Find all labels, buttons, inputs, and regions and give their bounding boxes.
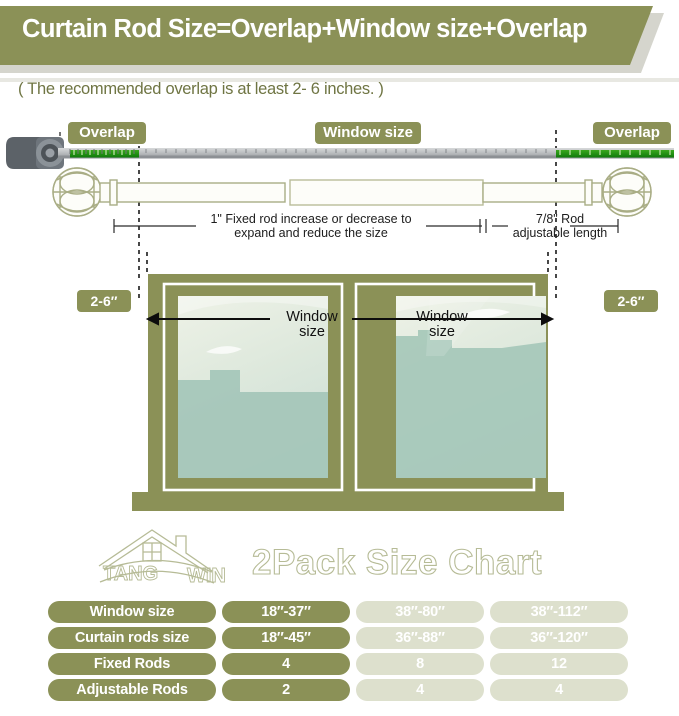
window-size-label-left: Window size [270,310,354,340]
table-cell: 38″-112″ [490,601,628,623]
page-title: Curtain Rod Size=Overlap+Window size+Ove… [22,15,587,44]
logo-text-right: WIN [187,565,226,587]
window-size-label-left-line2: size [270,325,354,340]
size-chart-table: Window size18″-37″38″-80″38″-112″Curtain… [48,601,632,705]
callout-left-margin: 2-6″ [77,290,131,312]
logo-text-left: TANG [103,563,158,585]
table-row-header: Fixed Rods [48,653,216,675]
window-size-label-right-line2: size [400,325,484,340]
table-cell: 12 [490,653,628,675]
note-adjustable-rod-line2: adjustable length [495,226,625,240]
table-row: Window size18″-37″38″-80″38″-112″ [48,601,632,623]
note-fixed-rod-line1: 1" Fixed rod increase or decrease to [196,212,426,226]
house-logo-icon [99,530,214,583]
table-cell: 18″-45″ [222,627,350,649]
table-row: Curtain rods size18″-45″36″-88″36″-120″ [48,627,632,649]
window-size-label-left-line1: Window [270,310,354,325]
table-cell: 2 [222,679,350,701]
table-row-header: Curtain rods size [48,627,216,649]
callout-right-margin: 2-6″ [604,290,658,312]
header-banner: Curtain Rod Size=Overlap+Window size+Ove… [0,6,679,74]
table-cell: 38″-80″ [356,601,484,623]
window-size-label-right: Window size [400,310,484,340]
note-adjustable-rod: 7/8" Rod adjustable length [495,212,625,241]
table-cell: 4 [356,679,484,701]
table-cell: 36″-88″ [356,627,484,649]
rod-finial-left [53,168,101,216]
table-cell: 8 [356,653,484,675]
callout-overlap-left: Overlap [68,122,146,144]
curtain-rod [53,168,651,216]
table-cell: 4 [222,653,350,675]
table-cell: 18″-37″ [222,601,350,623]
note-fixed-rod-line2: expand and reduce the size [196,226,426,240]
table-row-header: Window size [48,601,216,623]
note-fixed-rod: 1" Fixed rod increase or decrease to exp… [196,212,426,241]
note-adjustable-rod-line1: 7/8" Rod [495,212,625,226]
table-row: Adjustable Rods244 [48,679,632,701]
table-row: Fixed Rods4812 [48,653,632,675]
table-cell: 4 [490,679,628,701]
size-chart-title: 2Pack Size Chart [252,543,542,583]
tape-measure-reel [6,137,64,169]
table-row-header: Adjustable Rods [48,679,216,701]
rod-finial-right [603,168,651,216]
subtitle-note: ( The recommended overlap is at least 2-… [18,80,384,99]
window-size-label-right-line1: Window [400,310,484,325]
callout-overlap-right: Overlap [593,122,671,144]
tape-measure-ribbon [58,148,674,159]
callout-window-size-top: Window size [315,122,421,144]
table-cell: 36″-120″ [490,627,628,649]
